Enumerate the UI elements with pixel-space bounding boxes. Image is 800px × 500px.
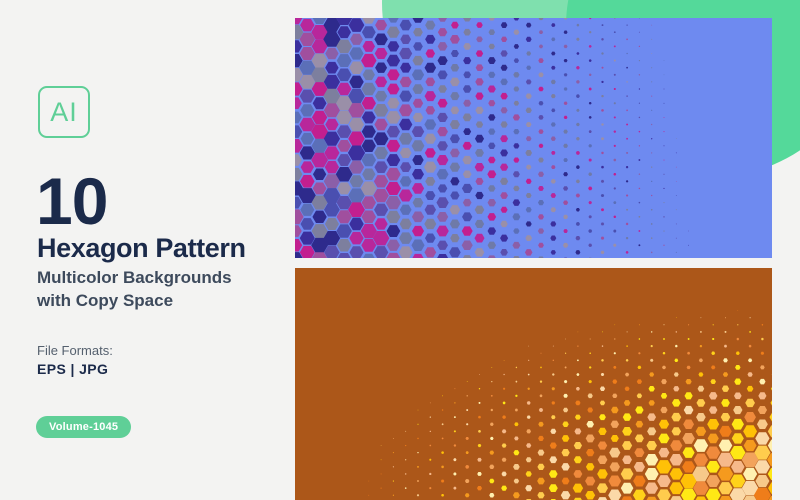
subtitle-line-2: with Copy Space	[37, 290, 287, 313]
file-formats-value: EPS | JPG	[37, 361, 108, 377]
ai-file-icon: AI	[38, 86, 90, 138]
page-title: Hexagon Pattern	[37, 234, 246, 264]
blue-hexagon-preview	[295, 18, 772, 258]
subtitle-line-1: Multicolor Backgrounds	[37, 267, 287, 290]
info-column: AI 10 Hexagon Pattern Multicolor Backgro…	[0, 0, 295, 500]
orange-hexagon-preview	[295, 268, 772, 500]
item-count: 10	[36, 168, 107, 234]
poster-canvas: AI 10 Hexagon Pattern Multicolor Backgro…	[0, 0, 800, 500]
ai-badge-label: AI	[50, 97, 78, 128]
page-subtitle: Multicolor Backgrounds with Copy Space	[37, 267, 287, 313]
file-formats-label: File Formats:	[37, 343, 113, 358]
volume-badge: Volume-1045	[36, 416, 131, 438]
blue-hexagon-pattern	[295, 18, 772, 258]
orange-hexagon-pattern	[295, 268, 772, 500]
